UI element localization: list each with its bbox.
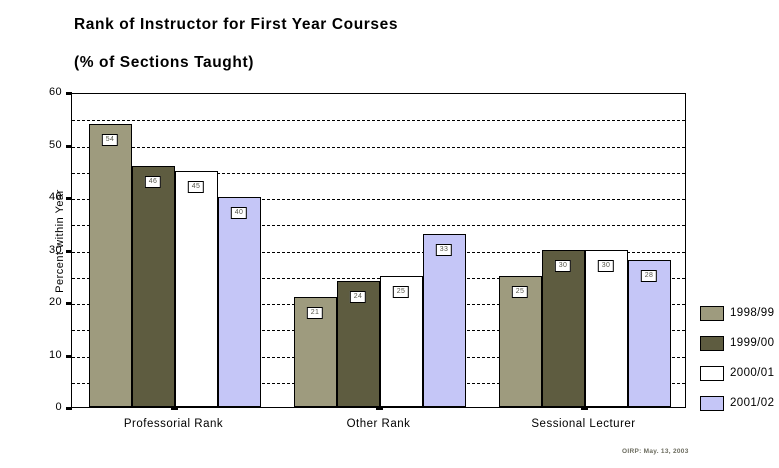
x-axis-category-label: Other Rank [347,418,411,430]
legend-item[interactable]: 2001/02 [700,388,774,418]
plot-inner: 544645402124253325303028 [72,94,685,407]
bar-group: 54464540 [89,94,261,407]
legend-item[interactable]: 1998/99 [700,298,774,328]
x-axis-category-label: Professorial Rank [124,418,223,430]
legend-swatch [700,306,724,321]
bar[interactable]: 30 [542,250,585,408]
bar-value-label: 45 [188,181,204,193]
bar-value-label: 25 [512,286,528,298]
bar-group: 25303028 [499,94,671,407]
bar[interactable]: 25 [380,276,423,407]
legend-label: 2000/01 [730,367,774,379]
bar-value-label: 21 [307,307,323,319]
bar[interactable]: 25 [499,276,542,407]
y-axis-tick-label: 0 [20,401,62,413]
x-axis-tick [581,406,588,410]
y-axis-tick-label: 40 [20,191,62,203]
x-axis-tick [376,406,383,410]
x-axis-tick [171,406,178,410]
legend-label: 1998/99 [730,307,774,319]
y-axis-tick-label: 60 [20,86,62,98]
bar-value-label: 46 [145,176,161,188]
y-axis-tick-label: 10 [20,349,62,361]
legend-swatch [700,366,724,381]
y-axis-tick-label: 30 [20,244,62,256]
y-axis-title: Percent within Year [54,141,66,341]
bar-value-label: 28 [641,270,657,282]
chart-subtitle: (% of Sections Taught) [74,54,254,72]
bar-value-label: 33 [436,244,452,256]
y-axis-tick-label: 50 [20,139,62,151]
bar[interactable]: 40 [218,197,261,407]
footer-note: OIRP: May. 13, 2003 [622,448,689,455]
x-axis-category-label: Sessional Lecturer [531,418,635,430]
bar[interactable]: 24 [337,281,380,407]
legend-item[interactable]: 2000/01 [700,358,774,388]
chart-legend: 1998/991999/002000/012001/02 [700,298,774,418]
y-axis-tick-label: 20 [20,296,62,308]
plot-area: 544645402124253325303028 [71,93,686,408]
bar[interactable]: 30 [585,250,628,408]
legend-label: 2001/02 [730,397,774,409]
legend-label: 1999/00 [730,337,774,349]
bar[interactable]: 54 [89,124,132,408]
bar-value-label: 40 [231,207,247,219]
bar[interactable]: 46 [132,166,175,408]
bar-value-label: 30 [555,260,571,272]
legend-item[interactable]: 1999/00 [700,328,774,358]
bar[interactable]: 21 [294,297,337,407]
bar[interactable]: 28 [628,260,671,407]
bar-group: 21242533 [294,94,466,407]
legend-swatch [700,396,724,411]
legend-swatch [700,336,724,351]
bar-value-label: 25 [393,286,409,298]
bar-value-label: 24 [350,291,366,303]
bar-value-label: 54 [102,134,118,146]
bar[interactable]: 33 [423,234,466,407]
bar-value-label: 30 [598,260,614,272]
chart-title: Rank of Instructor for First Year Course… [74,16,398,34]
bar[interactable]: 45 [175,171,218,407]
